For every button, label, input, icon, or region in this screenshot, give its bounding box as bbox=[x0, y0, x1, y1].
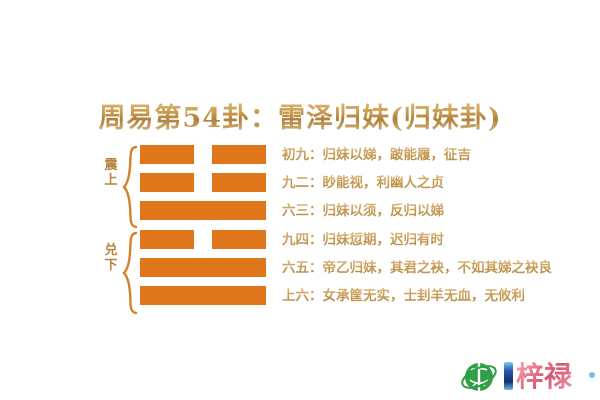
trigram-label-upper: 震 上 bbox=[100, 158, 122, 188]
yao-bar-full bbox=[140, 201, 266, 220]
hexagram-row-1: 初九：归妹以娣，跛能履，征吉 bbox=[140, 143, 540, 171]
brace-upper-icon bbox=[122, 145, 138, 229]
yao-bar-right bbox=[212, 145, 266, 164]
yao-text-3: 六三：归妹以须，反归以娣 bbox=[282, 199, 444, 223]
yao-line-5-solid bbox=[140, 258, 266, 277]
hexagram-row-4: 九四：归妹愆期，迟归有时 bbox=[140, 228, 540, 256]
yao-text-6: 上六：女承筐无实，士刲羊无血，无攸利 bbox=[282, 284, 525, 308]
yao-line-3-solid bbox=[140, 201, 266, 220]
trigram-label-lower: 兑 下 bbox=[100, 243, 122, 273]
yao-text-4: 九四：归妹愆期，迟归有时 bbox=[282, 228, 444, 252]
hexagram-row-5: 六五：帝乙归妹，其君之袂，不如其娣之袂良 bbox=[140, 256, 540, 284]
globe-icon bbox=[460, 358, 498, 396]
yao-bar-full bbox=[140, 286, 266, 305]
hexagram-row-2: 九二：眇能视，利幽人之贞 bbox=[140, 171, 540, 199]
yao-bar-right bbox=[212, 173, 266, 192]
trigram-lower-char-2: 下 bbox=[100, 258, 122, 273]
yao-line-4-broken bbox=[140, 230, 266, 249]
yao-line-1-broken bbox=[140, 145, 266, 164]
yao-text-5: 六五：帝乙归妹，其君之袂，不如其娣之袂良 bbox=[282, 256, 552, 280]
yao-bar-left bbox=[140, 145, 194, 164]
hexagram-row-3: 六三：归妹以须，反归以娣 bbox=[140, 199, 540, 227]
site-watermark: 梓禄 bbox=[458, 356, 598, 398]
trigram-upper-char-2: 上 bbox=[100, 173, 122, 188]
trigram-lower-char-1: 兑 bbox=[100, 243, 122, 258]
vertical-bar-icon bbox=[504, 362, 513, 390]
brace-lower-icon bbox=[122, 231, 138, 315]
yao-bar-left bbox=[140, 173, 194, 192]
trigram-upper-char-1: 震 bbox=[100, 158, 122, 173]
page-title: 周易第54卦：雷泽归妹(归妹卦) bbox=[0, 96, 600, 135]
yao-text-1: 初九：归妹以娣，跛能履，征吉 bbox=[282, 143, 471, 167]
yao-bar-right bbox=[212, 230, 266, 249]
hexagram-row-6: 上六：女承筐无实，士刲羊无血，无攸利 bbox=[140, 284, 540, 312]
yao-line-6-solid bbox=[140, 286, 266, 305]
yao-text-2: 九二：眇能视，利幽人之贞 bbox=[282, 171, 444, 195]
hexagram-diagram: 震 上 兑 下 初九：归妹以娣，跛能履，征吉 bbox=[100, 143, 540, 328]
yao-bar-full bbox=[140, 258, 266, 277]
yao-bar-left bbox=[140, 230, 194, 249]
logo-wordmark: 梓禄 bbox=[516, 358, 572, 396]
dot-icon bbox=[589, 372, 595, 378]
yao-line-2-broken bbox=[140, 173, 266, 192]
page-root: 周易第54卦：雷泽归妹(归妹卦) 震 上 兑 下 bbox=[0, 0, 600, 400]
